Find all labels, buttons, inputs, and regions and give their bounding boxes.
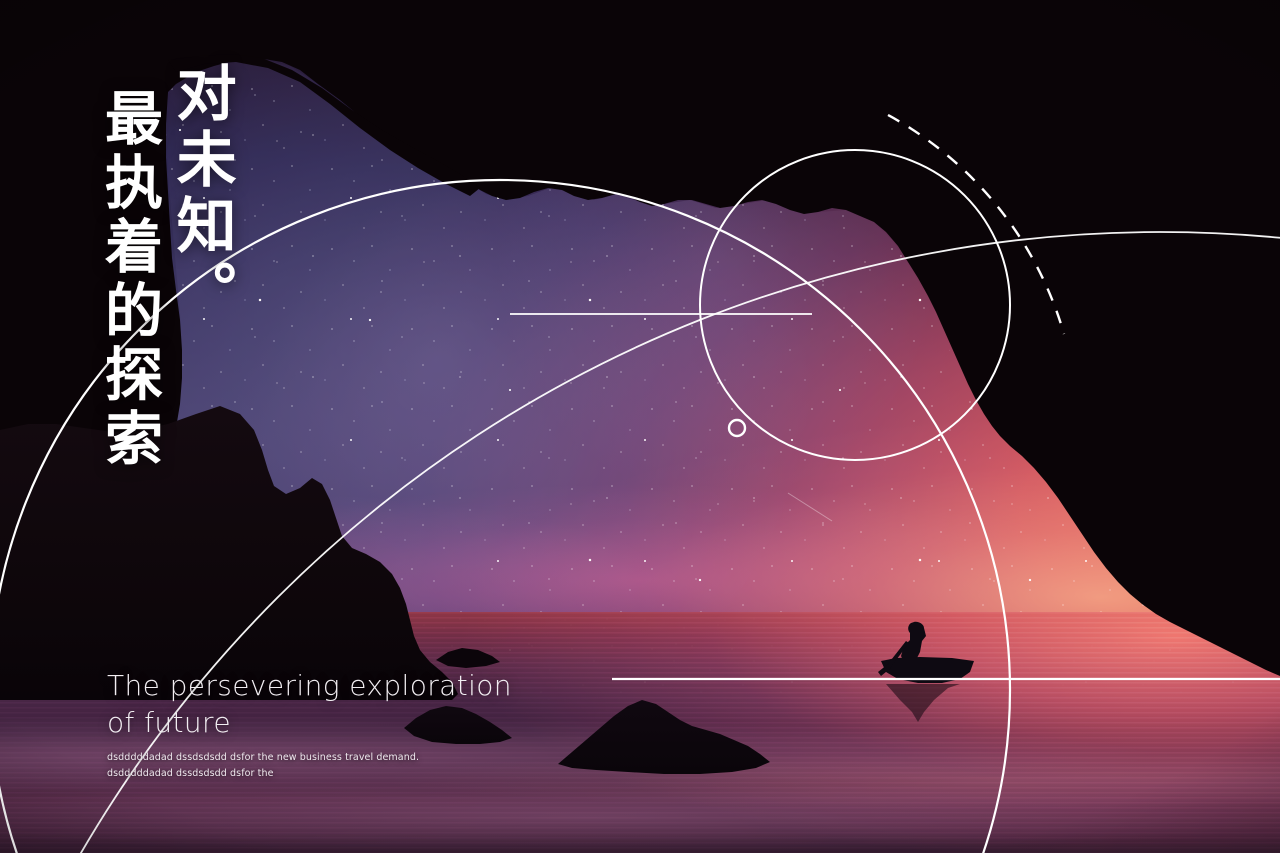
headline-cn-column-left: 最执着的探索 <box>96 88 161 472</box>
poster-canvas: 对未知。 最执着的探索 The persevering exploration … <box>0 0 1280 853</box>
headline-en-line1: The persevering exploration <box>107 668 512 705</box>
body-caption: dsdddddadad dssdsdsdd dsfor the new busi… <box>107 750 419 781</box>
headline-cn-column-right: 对未知。 <box>167 62 234 326</box>
headline-chinese: 对未知。 最执着的探索 <box>96 62 234 472</box>
headline-en-line2: of future <box>107 705 512 742</box>
body-caption-line2: dsdddddadad dssdsdsdd dsfor the <box>107 766 419 782</box>
body-caption-line1: dsdddddadad dssdsdsdd dsfor the new busi… <box>107 750 419 766</box>
headline-english: The persevering exploration of future <box>107 668 512 742</box>
